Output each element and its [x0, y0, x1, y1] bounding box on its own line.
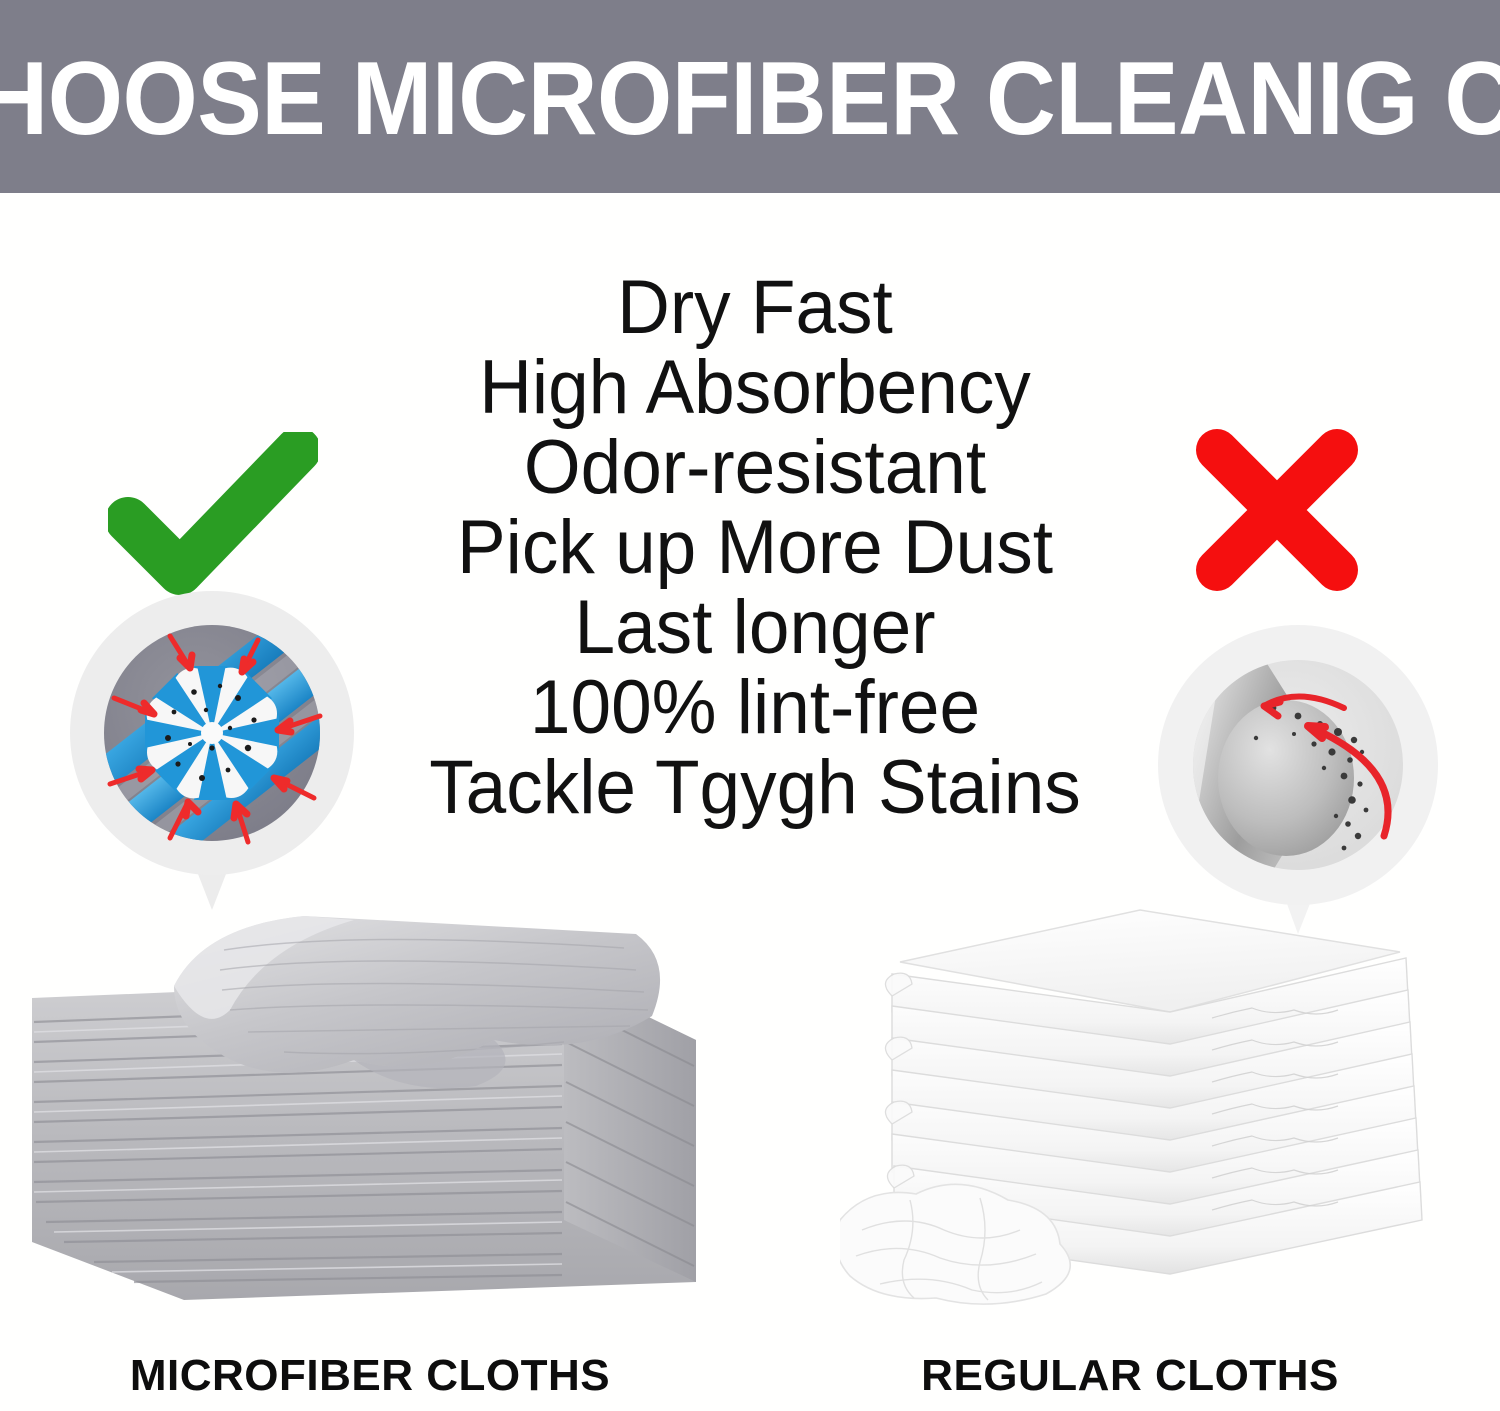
benefit-item: Last longer	[385, 588, 1124, 668]
benefit-item: Tackle Tgygh Stains	[385, 748, 1124, 828]
regular-cloth-stack-photo	[840, 900, 1480, 1310]
benefit-item: 100% lint-free	[385, 668, 1124, 748]
benefits-list: Dry Fast High Absorbency Odor-resistant …	[370, 268, 1140, 828]
caption-microfiber: MICROFIBER CLOTHS	[0, 1352, 740, 1400]
benefit-item: High Absorbency	[385, 348, 1124, 428]
benefit-item: Odor-resistant	[385, 428, 1124, 508]
infographic-page: WHY CHOOSE MICROFIBER CLEANIG CLOTHS Dry…	[0, 0, 1500, 1411]
benefit-item: Dry Fast	[385, 268, 1124, 348]
microfiber-cloth-stack-photo	[24, 890, 704, 1310]
microfiber-fiber-cross-section-icon	[62, 588, 362, 918]
page-title: WHY CHOOSE MICROFIBER CLEANIG CLOTHS	[0, 47, 1500, 151]
caption-regular: REGULAR CLOTHS	[760, 1352, 1500, 1400]
header-banner: WHY CHOOSE MICROFIBER CLEANIG CLOTHS	[0, 0, 1500, 193]
red-cross-icon	[1192, 425, 1362, 595]
benefit-item: Pick up More Dust	[385, 508, 1124, 588]
regular-fiber-cross-section-icon	[1148, 620, 1448, 940]
green-check-icon	[108, 432, 318, 597]
